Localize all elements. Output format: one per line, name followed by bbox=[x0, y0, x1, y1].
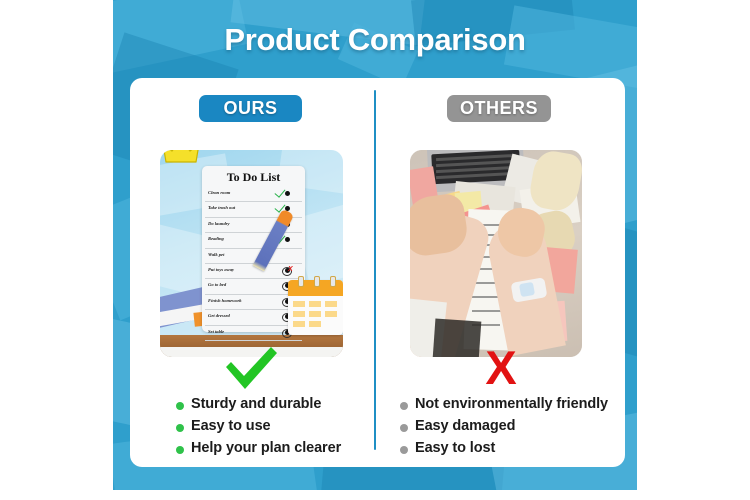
todo-row-label: Get dressed bbox=[208, 313, 230, 318]
list-item-label: Sturdy and durable bbox=[191, 396, 321, 412]
list-item: Easy to use bbox=[176, 418, 341, 434]
green-check-icon bbox=[222, 345, 280, 391]
calendar-cell bbox=[309, 321, 321, 327]
list-item-label: Not environmentally friendly bbox=[415, 396, 608, 412]
todo-row-mark: X bbox=[274, 265, 300, 277]
todo-row-label: Do laundry bbox=[208, 221, 230, 226]
list-item: Easy to lost bbox=[400, 440, 608, 456]
list-item-label: Help your plan clearer bbox=[191, 440, 341, 456]
ours-benefit-list: Sturdy and durableEasy to useHelp your p… bbox=[176, 396, 341, 462]
calendar-ring bbox=[330, 276, 336, 287]
watch-face bbox=[519, 282, 535, 297]
calendar-cell bbox=[309, 301, 321, 307]
bullet-dot-icon bbox=[176, 424, 184, 432]
todo-row-label: Put toys away bbox=[208, 267, 234, 272]
todo-row-label: Walk pet bbox=[208, 252, 224, 257]
list-item-label: Easy to use bbox=[191, 418, 271, 434]
todo-row-label: Take trash out bbox=[208, 205, 235, 210]
bullet-dot-icon bbox=[400, 446, 408, 454]
calendar-cell bbox=[309, 311, 321, 317]
calendar-cell bbox=[293, 321, 305, 327]
todo-row: Put toys awayX bbox=[205, 264, 302, 279]
red-x-icon: X bbox=[478, 345, 524, 391]
todo-row-label: Go to bed bbox=[208, 282, 226, 287]
todo-row: Clean room bbox=[205, 187, 302, 202]
others-product-photo bbox=[410, 150, 582, 357]
calendar-ring bbox=[298, 276, 304, 287]
bullet-dot-icon bbox=[176, 446, 184, 454]
todo-row-label: Set table bbox=[208, 329, 224, 334]
status-dot bbox=[285, 237, 290, 242]
list-item-label: Easy damaged bbox=[415, 418, 515, 434]
badge-others: OTHERS bbox=[447, 95, 551, 122]
ours-product-image: To Do List Clean roomTake trash outDo la… bbox=[160, 150, 343, 357]
todo-row-label: Reading bbox=[208, 236, 224, 241]
list-item: Not environmentally friendly bbox=[400, 396, 608, 412]
calendar-cell bbox=[325, 311, 337, 317]
list-item-label: Easy to lost bbox=[415, 440, 495, 456]
column-divider bbox=[374, 90, 376, 450]
calendar-cell bbox=[293, 311, 305, 317]
list-item: Easy damaged bbox=[400, 418, 608, 434]
todo-board-title: To Do List bbox=[202, 170, 305, 185]
bullet-dot-icon bbox=[400, 402, 408, 410]
check-icon bbox=[274, 186, 285, 198]
calendar-cell bbox=[293, 301, 305, 307]
bullet-dot-icon bbox=[400, 424, 408, 432]
list-item: Help your plan clearer bbox=[176, 440, 341, 456]
calendar-cell bbox=[325, 301, 337, 307]
infographic-root: Product Comparison OURS OTHERS bbox=[0, 0, 750, 500]
todo-row-mark bbox=[274, 188, 300, 200]
badge-ours: OURS bbox=[199, 95, 302, 122]
todo-row-label: Finish homework bbox=[208, 298, 242, 303]
list-item: Sturdy and durable bbox=[176, 396, 341, 412]
page-title: Product Comparison bbox=[113, 22, 637, 58]
others-drawback-list: Not environmentally friendlyEasy damaged… bbox=[400, 396, 608, 462]
desk-calendar-icon bbox=[288, 280, 343, 335]
photo-shadow bbox=[433, 318, 482, 357]
crown-icon bbox=[161, 150, 201, 166]
todo-row-mark bbox=[274, 250, 300, 262]
calendar-ring bbox=[314, 276, 320, 287]
todo-row-label: Clean room bbox=[208, 190, 230, 195]
status-dot bbox=[285, 191, 290, 196]
cross-icon: X bbox=[288, 266, 293, 273]
todo-row: Reading bbox=[205, 233, 302, 248]
bullet-dot-icon bbox=[176, 402, 184, 410]
